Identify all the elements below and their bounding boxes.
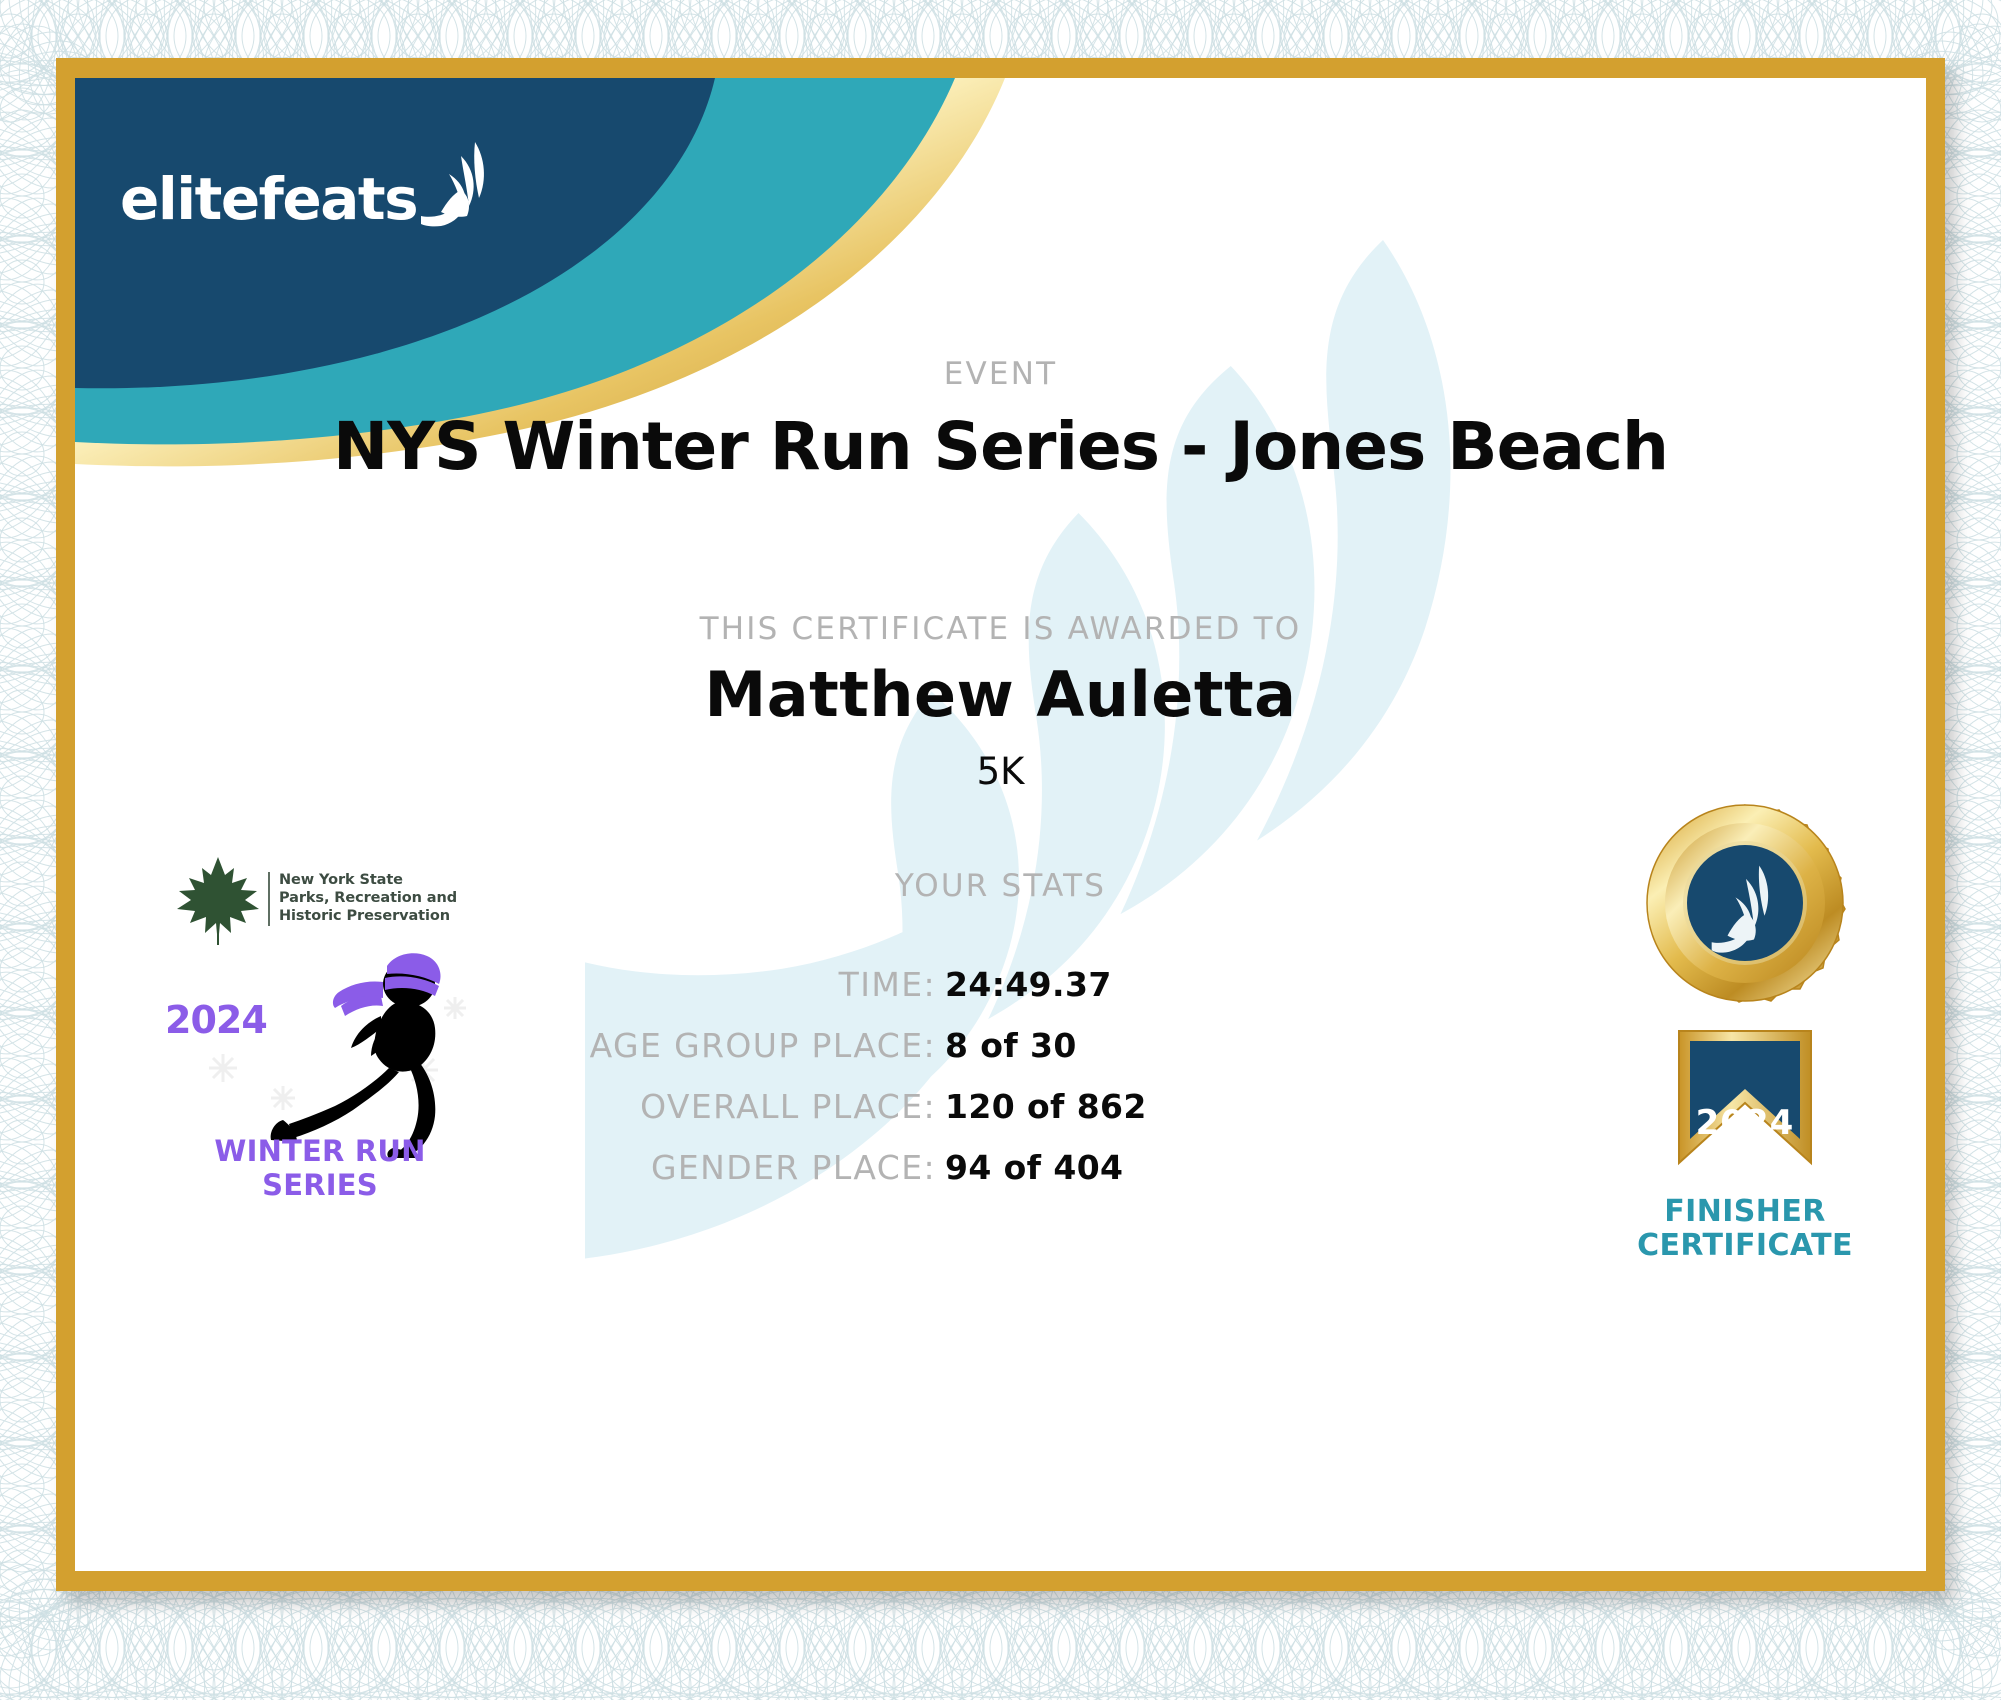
running-person-icon: [155, 948, 485, 1158]
finisher-badge: 2024 FINISHER CERTIFICATE: [1595, 803, 1895, 1273]
event-label: EVENT: [75, 356, 1926, 392]
race-distance: 5K: [75, 750, 1926, 793]
winged-foot-icon: [419, 140, 493, 228]
recipient-name: Matthew Auletta: [75, 658, 1926, 731]
certificate-page: elitefeats EVENT NYS Winter Run Series -…: [0, 0, 2001, 1700]
badge-caption-line-1: FINISHER: [1595, 1195, 1895, 1229]
new-york-state-parks-logo: New York State Parks, Recreation and His…: [175, 853, 495, 945]
nys-line-2: Parks, Recreation and: [279, 890, 457, 908]
badge-year: 2024: [1595, 1103, 1895, 1143]
elitefeats-logo: elitefeats: [120, 140, 493, 228]
awarded-to-label: THIS CERTIFICATE IS AWARDED TO: [75, 611, 1926, 647]
event-title: NYS Winter Run Series - Jones Beach: [75, 408, 1926, 485]
nys-line-1: New York State: [279, 872, 457, 890]
gold-rosette-ribbon-icon: [1595, 803, 1895, 1203]
badge-caption: FINISHER CERTIFICATE: [1595, 1195, 1895, 1262]
nys-parks-text-block: New York State Parks, Recreation and His…: [268, 872, 457, 925]
winter-run-series-logo: 2024: [155, 948, 485, 1188]
nys-line-3: Historic Preservation: [279, 908, 457, 926]
badge-caption-line-2: CERTIFICATE: [1595, 1229, 1895, 1263]
certificate-gold-border: elitefeats EVENT NYS Winter Run Series -…: [56, 58, 1945, 1591]
certificate-body: elitefeats EVENT NYS Winter Run Series -…: [75, 78, 1926, 1571]
brand-wordmark: elitefeats: [120, 170, 417, 228]
winter-run-series-title: WINTER RUN SERIES: [155, 1134, 485, 1202]
maple-leaf-icon: [175, 853, 261, 945]
